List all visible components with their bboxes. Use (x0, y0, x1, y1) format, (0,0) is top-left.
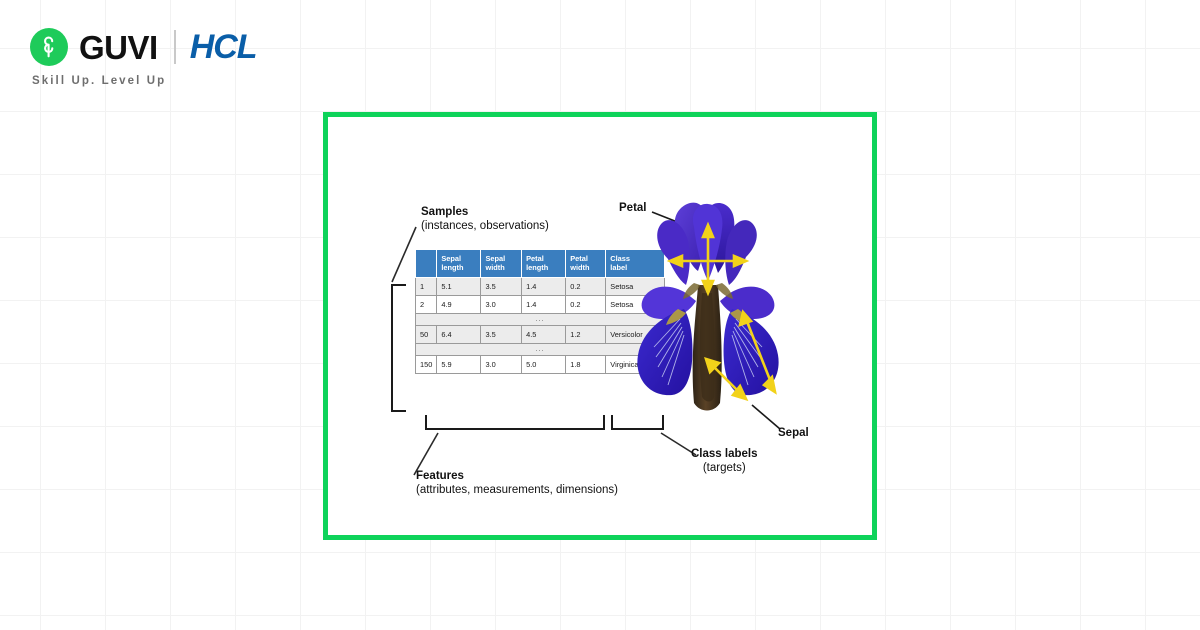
column-header-sepal-width: Sepal width (481, 250, 522, 278)
table-ellipsis-row: ... (416, 343, 665, 355)
brand-divider (174, 30, 176, 64)
callout-class-labels-sub: (targets) (691, 461, 757, 475)
table-cell: Versicolor (606, 325, 665, 343)
table-cell: 0.2 (566, 295, 606, 313)
table-cell: 0.2 (566, 277, 606, 295)
table-cell: 4.5 (522, 325, 566, 343)
callout-sepal-lead: Sepal (778, 427, 809, 439)
table-cell: 6.4 (437, 325, 481, 343)
callout-petal-lead: Petal (619, 202, 647, 214)
callout-petal: Petal (619, 202, 647, 214)
table-cell: 1.4 (522, 277, 566, 295)
column-header-petal-length: Petal length (522, 250, 566, 278)
callout-features: Features (attributes, measurements, dime… (416, 469, 618, 498)
iris-data-table: Sepal length Sepal width Petal length (415, 249, 665, 374)
callout-class-labels-lead: Class labels (691, 447, 757, 461)
table-ellipsis-cell: ... (416, 343, 665, 355)
table-cell: 3.0 (481, 355, 522, 373)
brand-lockup: GUVI HCL Skill Up. Level Up (30, 28, 257, 87)
column-header-class-label: Class label (606, 250, 665, 278)
callout-samples-lead: Samples (421, 205, 549, 219)
table-cell: 1.2 (566, 325, 606, 343)
guvi-circle-g-icon (30, 28, 68, 66)
table-cell: Setosa (606, 295, 665, 313)
table-cell: 2 (416, 295, 437, 313)
page-canvas: GUVI HCL Skill Up. Level Up (0, 0, 1200, 630)
iris-diagram: Sepal length Sepal width Petal length (328, 117, 872, 535)
callout-samples: Samples (instances, observations) (421, 205, 549, 234)
table-row: 24.93.01.40.2Setosa (416, 295, 665, 313)
table-row: 15.13.51.40.2Setosa (416, 277, 665, 295)
callout-features-lead: Features (416, 469, 618, 483)
table-ellipsis-cell: ... (416, 313, 665, 325)
callout-sepal: Sepal (778, 427, 809, 439)
table-cell: 3.5 (481, 325, 522, 343)
table-ellipsis-row: ... (416, 313, 665, 325)
table-row: 1505.93.05.01.8Virginica (416, 355, 665, 373)
callout-samples-sub: (instances, observations) (421, 219, 549, 233)
table-cell: 5.0 (522, 355, 566, 373)
brand-tagline: Skill Up. Level Up (32, 75, 166, 87)
table-header: Sepal length Sepal width Petal length (416, 250, 665, 278)
table-cell: 1.8 (566, 355, 606, 373)
table-cell: 5.9 (437, 355, 481, 373)
table-cell: 3.5 (481, 277, 522, 295)
table-row: 506.43.54.51.2Versicolor (416, 325, 665, 343)
column-header-index (416, 250, 437, 278)
column-header-sepal-length: Sepal length (437, 250, 481, 278)
table-cell: 3.0 (481, 295, 522, 313)
callout-class-labels: Class labels (targets) (691, 447, 757, 476)
table-cell: 1.4 (522, 295, 566, 313)
table-cell: Setosa (606, 277, 665, 295)
table-cell: 50 (416, 325, 437, 343)
table-cell: 5.1 (437, 277, 481, 295)
table-cell: 150 (416, 355, 437, 373)
callout-features-sub: (attributes, measurements, dimensions) (416, 483, 618, 497)
hcl-wordmark: HCL (190, 30, 257, 64)
brand-row: GUVI HCL (30, 28, 257, 66)
table-cell: 1 (416, 277, 437, 295)
table-body: 15.13.51.40.2Setosa24.93.01.40.2Setosa..… (416, 277, 665, 373)
table-header-row: Sepal length Sepal width Petal length (416, 250, 665, 278)
column-header-petal-width: Petal width (566, 250, 606, 278)
table-cell: Virginica (606, 355, 665, 373)
guvi-wordmark: GUVI (79, 31, 158, 64)
figure-frame: Sepal length Sepal width Petal length (323, 112, 877, 540)
table-cell: 4.9 (437, 295, 481, 313)
